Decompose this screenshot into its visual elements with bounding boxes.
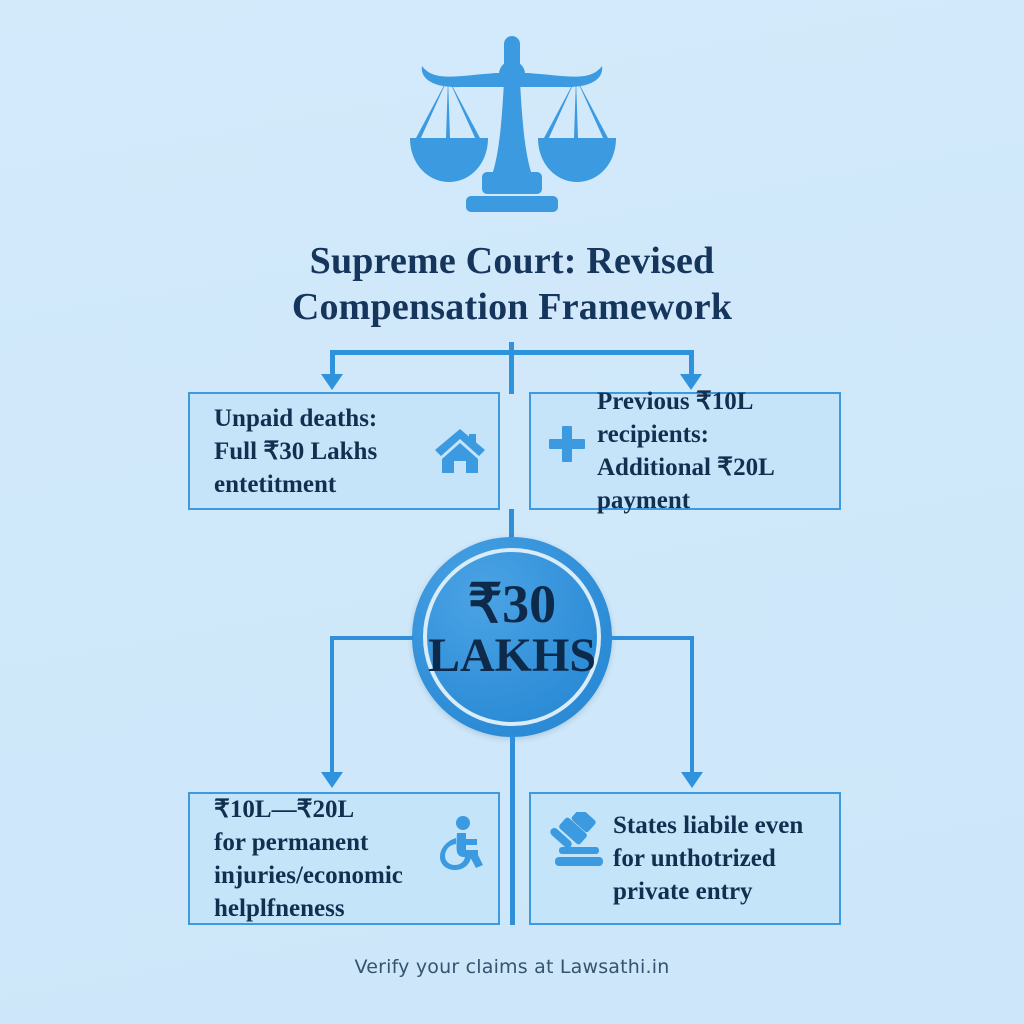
card-unpaid-deaths-line-1: Unpaid deaths: — [214, 405, 377, 432]
card-permanent-injuries-text: ₹10L—₹20L for permanent injuries/economi… — [214, 793, 434, 925]
card-state-liability[interactable]: States liabile even for unthotrized priv… — [529, 792, 841, 925]
connector-bottom-bus-right — [610, 636, 694, 640]
infographic-canvas: Supreme Court: Revised Compensation Fram… — [0, 0, 1024, 1024]
arrow-down-top-left — [321, 374, 343, 390]
card-state-liability-line-2: for unthotrized — [613, 845, 776, 872]
card-previous-recipients-text: Previous ₹10L recipients: Additional ₹20… — [597, 385, 831, 517]
card-unpaid-deaths[interactable]: Unpaid deaths: Full ₹30 Lakhs entetitmen… — [188, 392, 500, 510]
card-permanent-injuries-line-1: ₹10L—₹20L — [214, 796, 354, 823]
central-amount-badge: ₹30 LAKHS — [412, 537, 612, 737]
card-state-liability-line-1: States liabile even — [613, 812, 803, 839]
connector-top-bus — [330, 350, 694, 355]
connector-bottom-right-drop — [690, 636, 694, 776]
connector-bottom-bus-left — [330, 636, 414, 640]
card-previous-recipients-line-1: Previous ₹10L — [597, 388, 753, 415]
card-previous-recipients-line-2: recipients: — [597, 421, 709, 448]
badge-caption: ₹30 LAKHS — [404, 575, 620, 685]
connector-bottom-left-drop — [330, 636, 334, 776]
card-unpaid-deaths-line-2: Full ₹30 Lakhs — [214, 438, 377, 465]
card-unpaid-deaths-text: Unpaid deaths: Full ₹30 Lakhs entetitmen… — [214, 402, 426, 501]
title-line-2: Compensation Framework — [252, 284, 772, 330]
home-icon — [434, 427, 486, 475]
page-title: Supreme Court: Revised Compensation Fram… — [252, 238, 772, 330]
card-permanent-injuries-line-3: injuries/economic — [214, 862, 403, 889]
title-line-1: Supreme Court: Revised — [252, 238, 772, 284]
arrow-down-bottom-left — [321, 772, 343, 788]
arrow-down-bottom-right — [681, 772, 703, 788]
card-state-liability-line-3: private entry — [613, 878, 753, 905]
plus-icon — [547, 424, 587, 464]
badge-amount: ₹30 — [404, 575, 620, 633]
wheelchair-accessibility-icon — [438, 816, 490, 870]
footer-verify-text: Verify your claims at Lawsathi.in — [0, 956, 1024, 978]
card-unpaid-deaths-line-3: entetitment — [214, 471, 336, 498]
card-previous-recipients[interactable]: Previous ₹10L recipients: Additional ₹20… — [529, 392, 841, 510]
gavel-icon — [547, 812, 605, 866]
badge-unit: LAKHS — [404, 627, 620, 685]
scales-of-justice-icon — [404, 30, 620, 220]
connector-center-stem — [510, 735, 515, 925]
card-permanent-injuries-line-2: for permanent — [214, 829, 368, 856]
card-permanent-injuries-line-4: helplfneness — [214, 895, 345, 922]
card-permanent-injuries[interactable]: ₹10L—₹20L for permanent injuries/economi… — [188, 792, 500, 925]
card-state-liability-text: States liabile even for unthotrized priv… — [613, 809, 829, 908]
card-previous-recipients-line-3: Additional ₹20L payment — [597, 454, 773, 514]
